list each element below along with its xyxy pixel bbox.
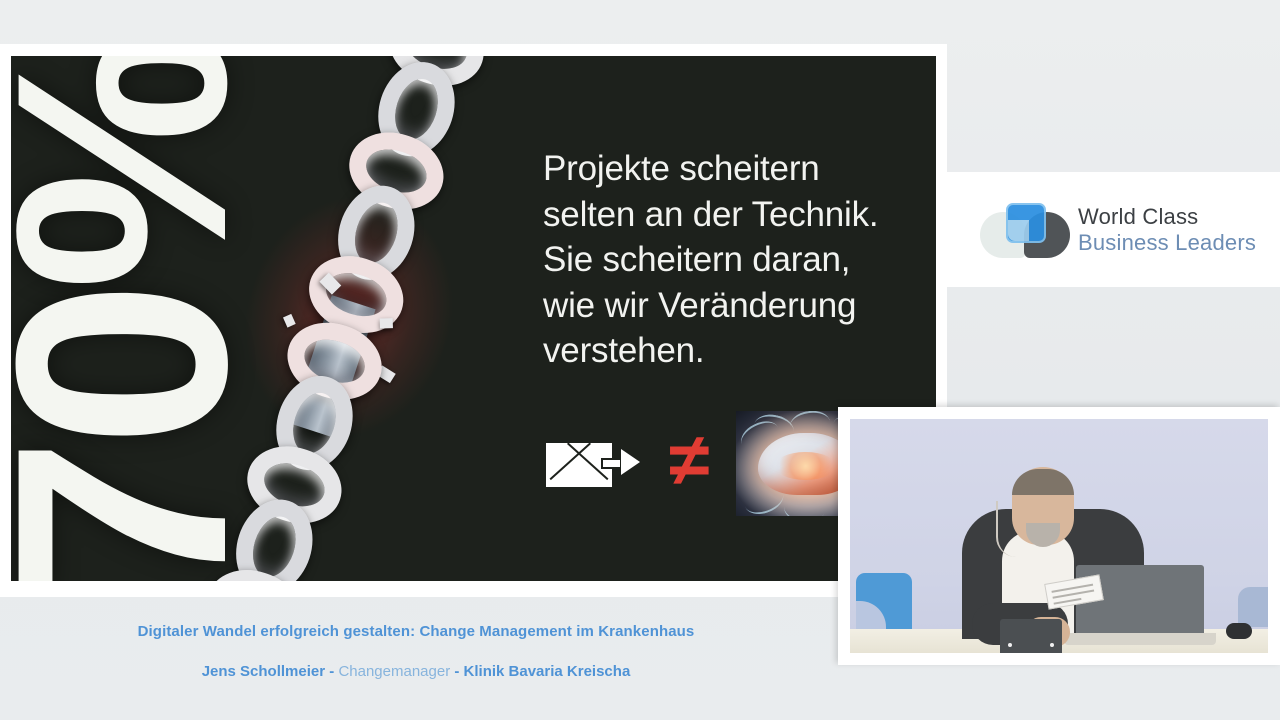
- slide-frame: 70%: [0, 44, 947, 597]
- speaker-role: Changemanager: [338, 663, 450, 680]
- brand-logo-panel: World Class Business Leaders: [947, 172, 1280, 287]
- chain-shard: [376, 365, 395, 383]
- chair-left: [856, 573, 912, 631]
- chain-shard: [380, 318, 393, 328]
- headline-line: wie wir Veränderung: [543, 283, 923, 329]
- broken-chain-graphic: 70%: [11, 56, 531, 581]
- headline-line: selten an der Technik.: [543, 192, 923, 238]
- brand-wordmark: World Class Business Leaders: [1078, 204, 1256, 256]
- chair-right: [1238, 587, 1268, 627]
- slide-canvas: 70%: [11, 56, 936, 581]
- slide-headline: Projekte scheitern selten an der Technik…: [543, 146, 923, 374]
- chain-link: [339, 121, 453, 221]
- headline-line: Sie scheitern daran,: [543, 237, 923, 283]
- headline-line: verstehen.: [543, 328, 923, 374]
- brand-line-2: Business Leaders: [1078, 230, 1256, 256]
- talk-title: Digitaler Wandel erfolgreich gestalten: …: [0, 623, 832, 640]
- bubble-blue-icon: [1006, 203, 1046, 243]
- speaker-separator-1: -: [325, 663, 338, 680]
- chain-link: [366, 56, 466, 166]
- speaker-name: Jens Schollmeier: [202, 663, 325, 680]
- computer-mouse: [1226, 623, 1252, 639]
- statistic-70-percent: 70%: [11, 59, 336, 579]
- speaker-credit-line: Jens Schollmeier - Changemanager - Klini…: [0, 663, 832, 680]
- chain-link: [379, 56, 493, 97]
- arrow-right-icon: [601, 450, 643, 476]
- headline-line: Projekte scheitern: [543, 146, 923, 192]
- speaker-camera-feed[interactable]: [850, 419, 1268, 653]
- footer-caption-block: Digitaler Wandel erfolgreich gestalten: …: [0, 605, 832, 680]
- brand-line-1: World Class: [1078, 204, 1256, 230]
- speaker-separator-2: -: [450, 663, 463, 680]
- audio-device: [1000, 619, 1062, 653]
- speech-bubbles-logo-icon: [980, 202, 1062, 258]
- laptop-base: [1064, 633, 1216, 645]
- not-equal-icon: ≠: [669, 423, 710, 497]
- slide-caption: Information ≠ Transparenz: [543, 576, 851, 581]
- speaker-video-panel[interactable]: [838, 407, 1280, 665]
- envelope-send-icon: [543, 436, 643, 492]
- chain-link: [326, 176, 426, 290]
- speaker-organization: Klinik Bavaria Kreischa: [464, 663, 631, 680]
